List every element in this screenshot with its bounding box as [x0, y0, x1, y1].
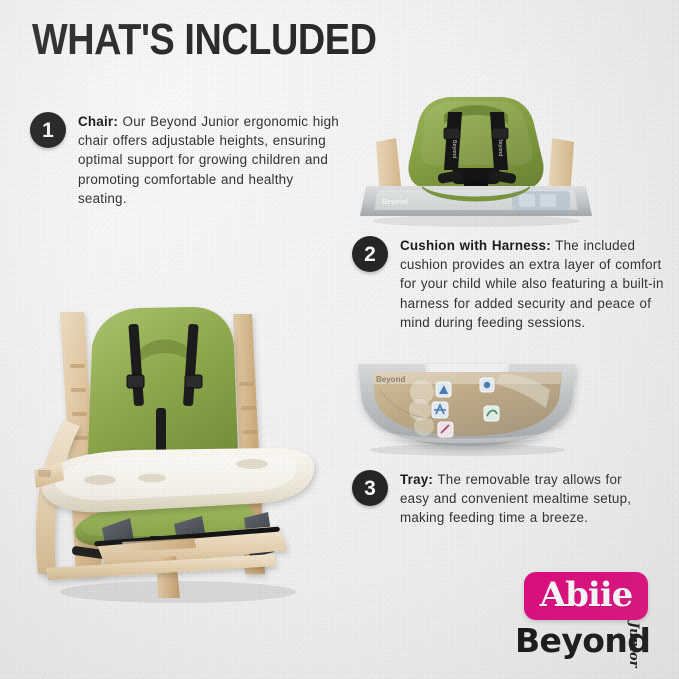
svg-text:Beyond: Beyond	[451, 140, 457, 158]
feature-number-badge: 1	[30, 112, 66, 148]
product-photo-tray: Beyond	[350, 350, 584, 458]
svg-text:Beyond: Beyond	[376, 375, 405, 384]
feature-description: The removable tray allows for easy and c…	[400, 472, 631, 525]
feature-text: Tray: The removable tray allows for easy…	[400, 470, 654, 528]
infographic-canvas: WHAT'S INCLUDED 1 Chair: Our Beyond Juni…	[0, 0, 679, 679]
logo-brand-text: Abiie	[524, 572, 648, 620]
feature-term: Tray:	[400, 472, 433, 487]
feature-description: Our Beyond Junior ergonomic high chair o…	[78, 114, 339, 206]
svg-text:Beyond: Beyond	[497, 138, 503, 156]
product-photo-cushion: Beyond Beyond Beyond	[352, 88, 600, 228]
brand-logo: Abiie Beyond Junior	[515, 572, 665, 666]
feature-number-badge: 2	[352, 236, 388, 272]
tray-illustration: Beyond	[350, 350, 584, 458]
feature-term: Chair:	[78, 114, 118, 129]
feature-item-tray: 3 Tray: The removable tray allows for ea…	[352, 470, 654, 528]
feature-text: Chair: Our Beyond Junior ergonomic high …	[78, 112, 342, 208]
page-title: WHAT'S INCLUDED	[32, 18, 376, 62]
logo-pill-background: Abiie	[524, 572, 648, 620]
feature-item-chair: 1 Chair: Our Beyond Junior ergonomic hig…	[30, 112, 342, 208]
feature-term: Cushion with Harness:	[400, 238, 551, 253]
product-photo-high-chair	[26, 212, 326, 604]
cushion-harness-illustration: Beyond Beyond Beyond	[352, 88, 600, 228]
svg-text:Beyond: Beyond	[382, 199, 408, 206]
feature-number-badge: 3	[352, 470, 388, 506]
logo-sub-text: Junior	[626, 622, 641, 668]
high-chair-illustration	[26, 212, 326, 604]
feature-text: Cushion with Harness: The included cushi…	[400, 236, 664, 332]
feature-item-cushion: 2 Cushion with Harness: The included cus…	[352, 236, 664, 332]
